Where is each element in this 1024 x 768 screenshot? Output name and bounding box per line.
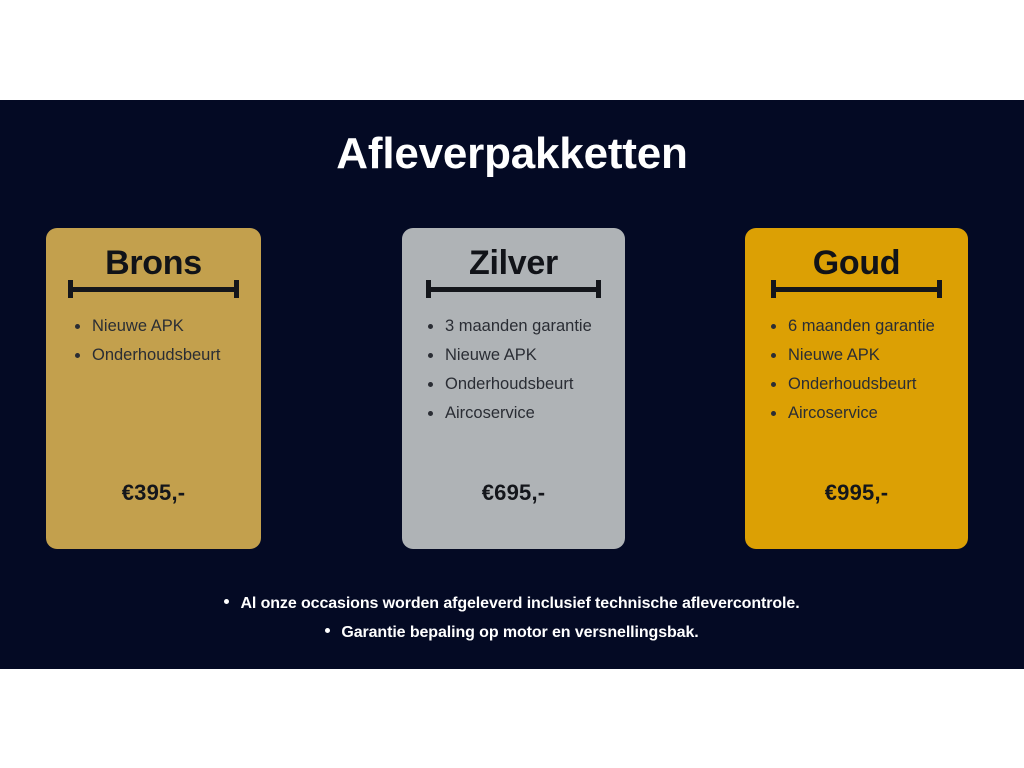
package-price-goud: €995,- — [745, 480, 968, 506]
divider-bar — [426, 287, 601, 292]
footer-note-item: Al onze occasions worden afgeleverd incl… — [0, 589, 1024, 618]
divider-bar — [68, 287, 239, 292]
list-item: Onderhoudsbeurt — [767, 374, 958, 395]
footer-notes: Al onze occasions worden afgeleverd incl… — [0, 589, 1024, 647]
package-title-brons: Brons — [46, 242, 261, 284]
list-item: Nieuwe APK — [424, 345, 615, 366]
feature-list-brons: Nieuwe APK Onderhoudsbeurt — [71, 316, 249, 374]
bullet-icon — [325, 628, 330, 633]
divider-cap-right — [596, 280, 601, 298]
package-card-brons[interactable]: Brons Nieuwe APK Onderhoudsbeurt €395,- — [46, 228, 261, 549]
package-card-zilver[interactable]: Zilver 3 maanden garantie Nieuwe APK Ond… — [402, 228, 625, 549]
footer-note-text: Garantie bepaling op motor en versnellin… — [341, 624, 698, 641]
package-card-goud[interactable]: Goud 6 maanden garantie Nieuwe APK Onder… — [745, 228, 968, 549]
package-title-zilver: Zilver — [402, 242, 625, 284]
footer-note-item: Garantie bepaling op motor en versnellin… — [0, 618, 1024, 647]
feature-list-goud: 6 maanden garantie Nieuwe APK Onderhouds… — [767, 316, 958, 432]
list-item: Nieuwe APK — [71, 316, 249, 337]
slide-canvas: Afleverpakketten Brons Nieuwe APK Onderh… — [0, 0, 1024, 768]
list-item: Onderhoudsbeurt — [71, 345, 249, 366]
feature-list-zilver: 3 maanden garantie Nieuwe APK Onderhouds… — [424, 316, 615, 432]
ibeam-divider-icon — [771, 280, 942, 298]
package-title-goud: Goud — [745, 242, 968, 284]
list-item: Nieuwe APK — [767, 345, 958, 366]
list-item: 3 maanden garantie — [424, 316, 615, 337]
footer-note-text: Al onze occasions worden afgeleverd incl… — [240, 595, 799, 612]
ibeam-divider-icon — [68, 280, 239, 298]
list-item: Aircoservice — [767, 403, 958, 424]
list-item: Onderhoudsbeurt — [424, 374, 615, 395]
package-price-brons: €395,- — [46, 480, 261, 506]
divider-cap-right — [234, 280, 239, 298]
list-item: 6 maanden garantie — [767, 316, 958, 337]
list-item: Aircoservice — [424, 403, 615, 424]
page-title: Afleverpakketten — [0, 128, 1024, 180]
divider-bar — [771, 287, 942, 292]
ibeam-divider-icon — [426, 280, 601, 298]
package-price-zilver: €695,- — [402, 480, 625, 506]
divider-cap-right — [937, 280, 942, 298]
bullet-icon — [224, 599, 229, 604]
